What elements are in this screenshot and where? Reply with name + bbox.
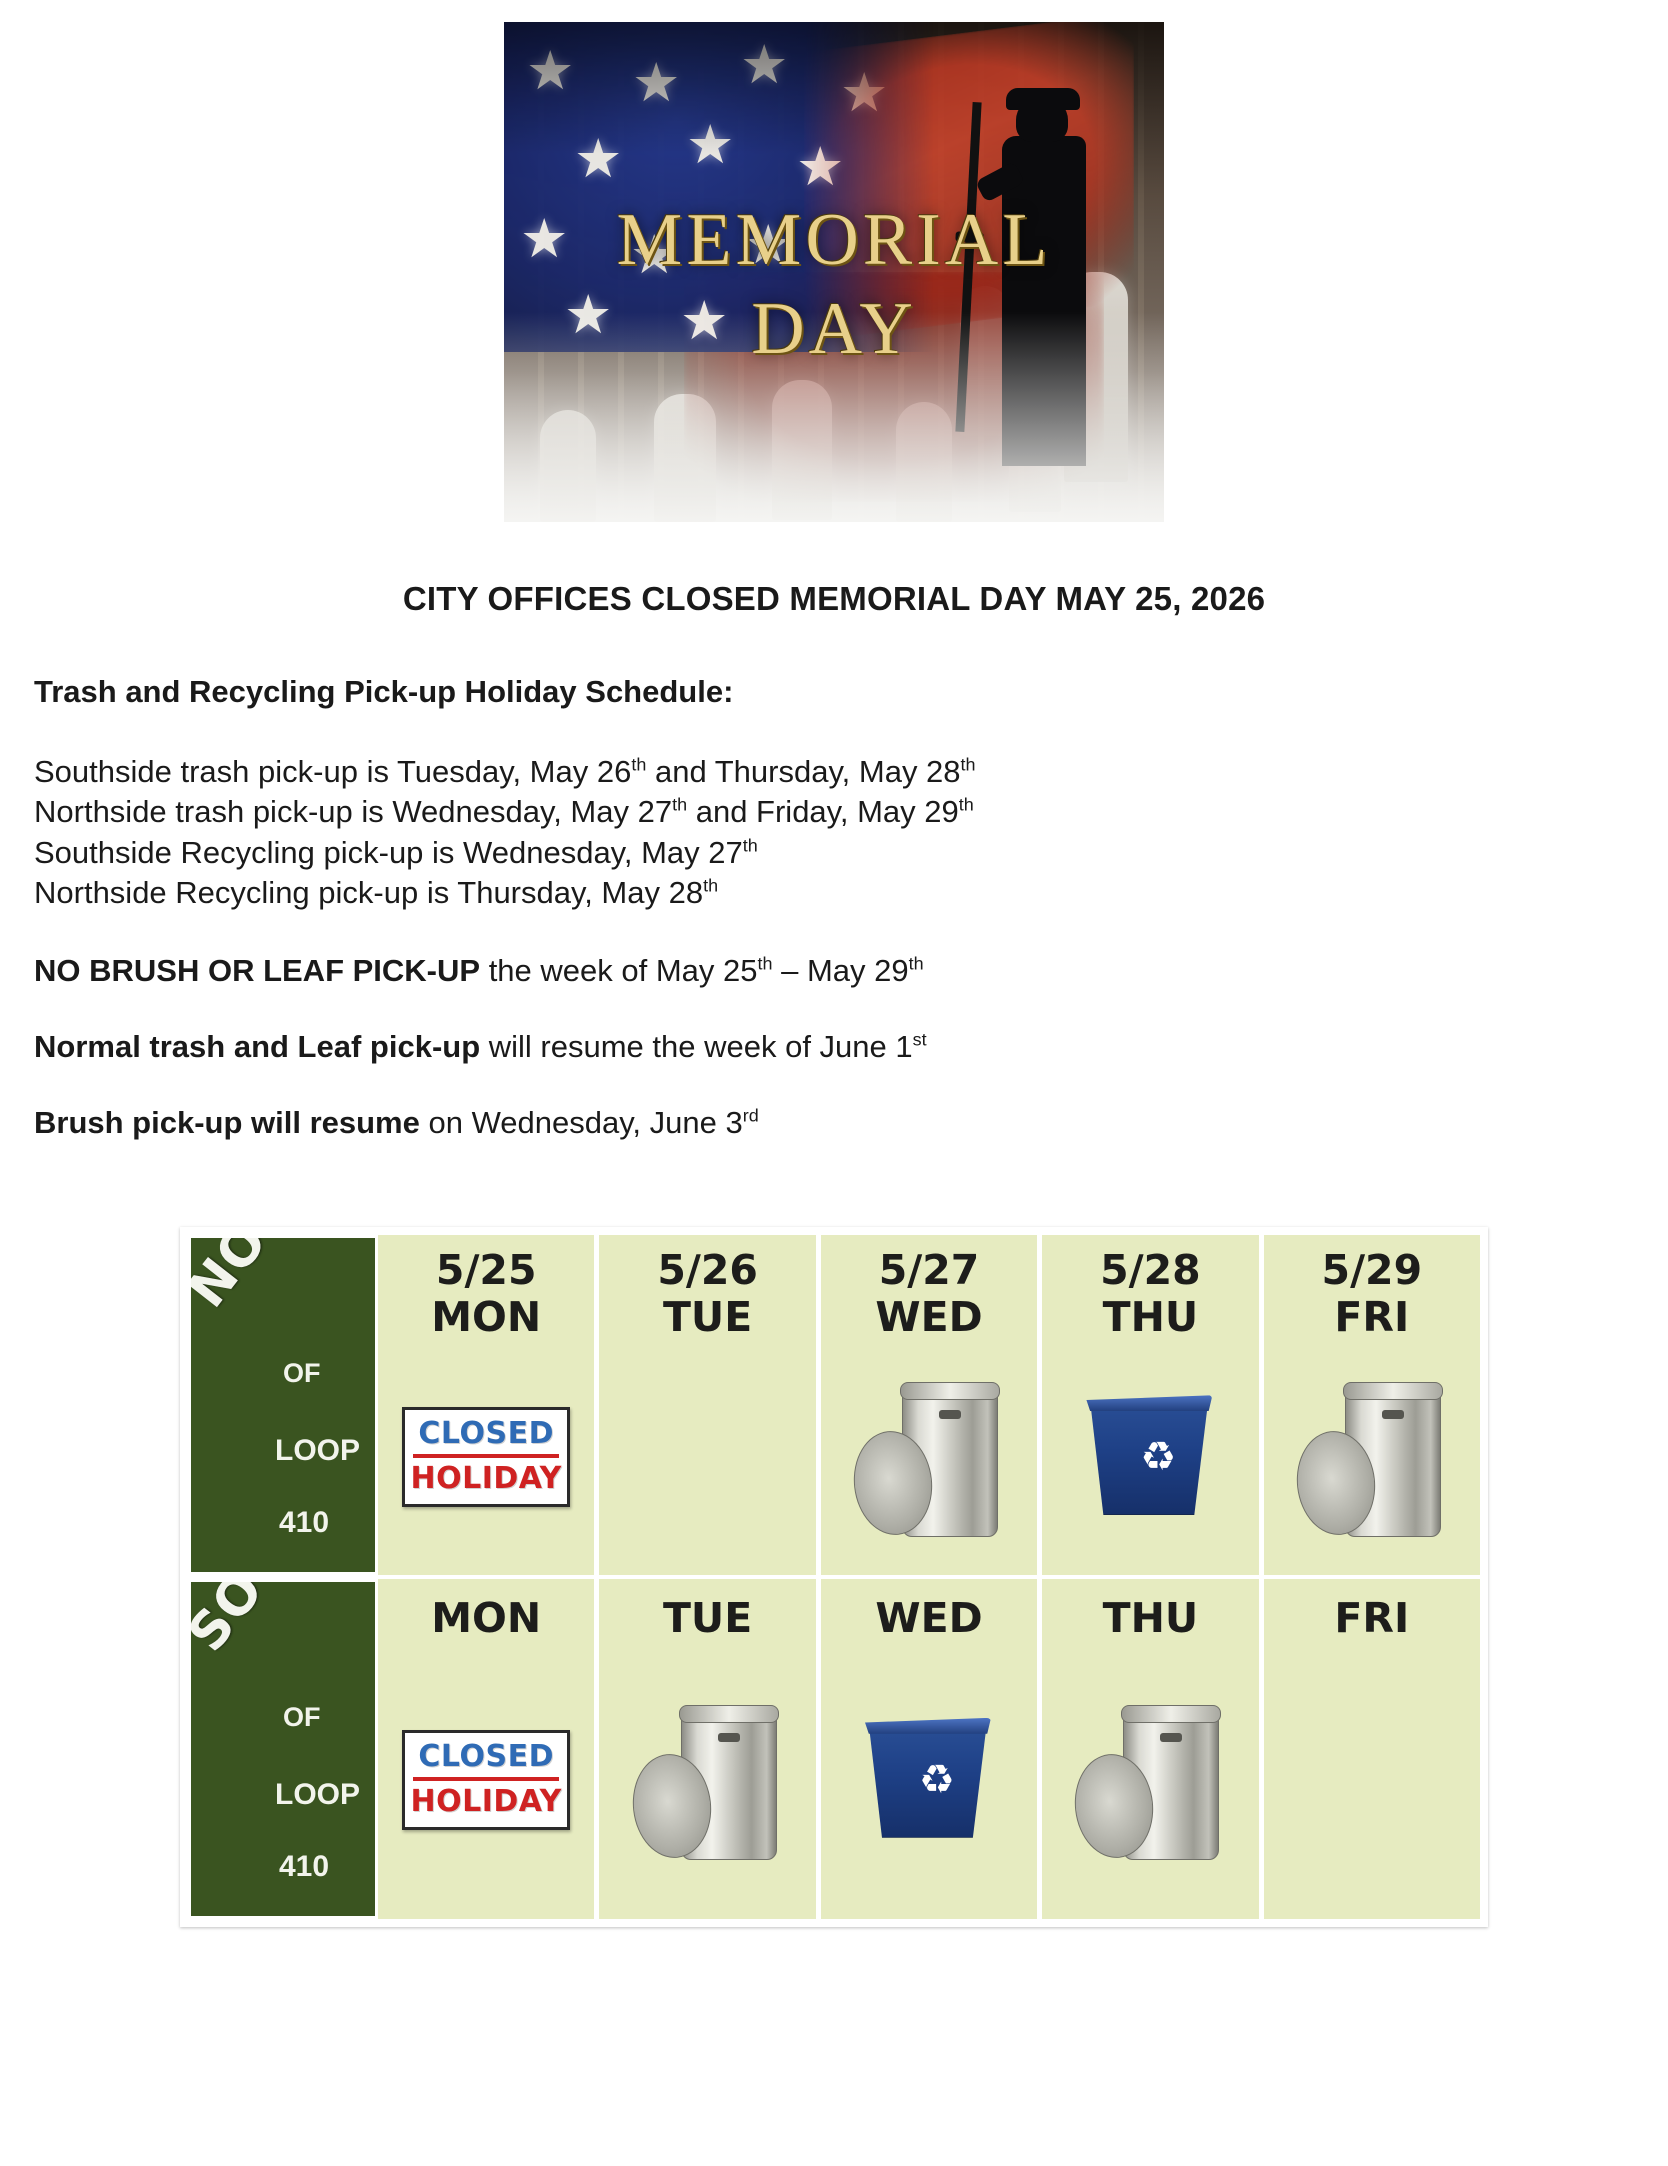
cell-day: WED <box>875 1597 982 1640</box>
schedule-list: Southside trash pick-up is Tuesday, May … <box>34 752 1668 913</box>
cell-day: MON <box>431 1597 541 1640</box>
cell-day: THU <box>1103 1296 1199 1339</box>
ordinal-suffix: th <box>959 795 974 815</box>
cell-day: WED <box>875 1296 982 1339</box>
schedule-text: Northside Recycling pick-up is Thursday,… <box>34 875 703 910</box>
region-name: SOUTH <box>188 1579 378 1663</box>
ordinal-suffix: st <box>913 1030 927 1050</box>
schedule-line: Southside Recycling pick-up is Wednesday… <box>34 833 1668 873</box>
notice-bold-text: NO BRUSH OR LEAF PICK-UP <box>34 953 480 988</box>
region-of-label: OF <box>283 1702 321 1733</box>
notice-no-brush: NO BRUSH OR LEAF PICK-UP the week of May… <box>34 953 1668 989</box>
soldier-cap <box>1006 88 1080 110</box>
pickup-calendar: NORTH OF LOOP 410 5/25 MON CLOSED HOLIDA… <box>180 1227 1488 1927</box>
cell-icon-slot: ♻ <box>821 1640 1037 1919</box>
trash-can-icon <box>1297 1377 1447 1537</box>
memorial-day-title: MEMORIAL DAY <box>504 198 1164 372</box>
region-loop-label: LOOP <box>275 1778 360 1812</box>
ordinal-suffix: th <box>909 954 924 974</box>
cell-day: TUE <box>663 1296 752 1339</box>
holiday-label: HOLIDAY <box>409 1784 563 1819</box>
star-icon: ★ <box>526 44 574 98</box>
cell-icon-slot <box>599 1339 815 1575</box>
recycle-bin-rim <box>865 1718 991 1734</box>
ordinal-suffix: th <box>961 755 976 775</box>
ordinal-suffix: th <box>672 795 687 815</box>
cell-icon-slot: CLOSED HOLIDAY <box>378 1339 594 1575</box>
cell-icon-slot <box>1042 1640 1258 1919</box>
cell-day: MON <box>431 1296 541 1339</box>
cell-icon-slot <box>821 1339 1037 1575</box>
cell-icon-slot <box>599 1640 815 1919</box>
notice-bold-text: Normal trash and Leaf pick-up <box>34 1029 480 1064</box>
calendar-cell: 5/27 WED <box>821 1235 1042 1575</box>
banner-container: ★ ★ ★ ★ ★ ★ ★ ★ ★ ★ ★ ★ MEMORIAL DAY <box>0 0 1668 522</box>
schedule-text: and Friday, May 29 <box>687 794 959 829</box>
closed-holiday-sign: CLOSED HOLIDAY <box>402 1730 570 1830</box>
calendar-cell: 5/25 MON CLOSED HOLIDAY <box>378 1235 599 1575</box>
ordinal-suffix: th <box>703 876 718 896</box>
schedule-text: Northside trash pick-up is Wednesday, Ma… <box>34 794 672 829</box>
ordinal-suffix: th <box>758 954 773 974</box>
calendar-row-north: NORTH OF LOOP 410 5/25 MON CLOSED HOLIDA… <box>188 1235 1480 1579</box>
recycle-bin-icon: ♻ <box>863 1714 995 1846</box>
holiday-label: HOLIDAY <box>409 1461 563 1496</box>
calendar-cell: 5/28 THU ♻ <box>1042 1235 1263 1575</box>
cell-icon-slot: ♻ <box>1042 1339 1258 1575</box>
region-loop-label: LOOP <box>275 1434 360 1468</box>
cell-date: 5/25 <box>436 1249 537 1292</box>
recycle-symbol-icon: ♻ <box>1140 1437 1176 1477</box>
cell-day: FRI <box>1334 1597 1409 1640</box>
notice-brush-resume: Brush pick-up will resume on Wednesday, … <box>34 1105 1668 1141</box>
trash-can-icon <box>1075 1700 1225 1860</box>
closed-label: CLOSED <box>409 1739 563 1774</box>
cell-day: TUE <box>663 1597 752 1640</box>
notice-normal-resume: Normal trash and Leaf pick-up will resum… <box>34 1029 1668 1065</box>
day-word: DAY <box>504 287 1164 372</box>
trash-can-icon <box>854 1377 1004 1537</box>
ordinal-suffix: th <box>631 755 646 775</box>
cell-date: 5/29 <box>1322 1249 1423 1292</box>
star-icon: ★ <box>796 140 844 194</box>
star-icon: ★ <box>740 38 788 92</box>
calendar-cell: MON CLOSED HOLIDAY <box>378 1579 599 1919</box>
notice-text: – May 29 <box>773 953 909 988</box>
section-heading: Trash and Recycling Pick-up Holiday Sche… <box>34 674 1668 710</box>
closed-label: CLOSED <box>409 1416 563 1451</box>
cell-day: THU <box>1103 1597 1199 1640</box>
page-title: CITY OFFICES CLOSED MEMORIAL DAY MAY 25,… <box>0 580 1668 618</box>
calendar-cell: THU <box>1042 1579 1263 1919</box>
recycle-symbol-icon: ♻ <box>919 1760 955 1800</box>
ordinal-suffix: rd <box>743 1106 759 1126</box>
schedule-text: Southside Recycling pick-up is Wednesday… <box>34 835 743 870</box>
memorial-word: MEMORIAL <box>504 198 1164 283</box>
star-icon: ★ <box>840 66 888 120</box>
calendar-cells-north: 5/25 MON CLOSED HOLIDAY 5/26 TUE <box>378 1235 1480 1575</box>
calendar-row-south: SOUTH OF LOOP 410 MON CLOSED HOLIDAY <box>188 1579 1480 1919</box>
schedule-text: and Thursday, May 28 <box>646 754 960 789</box>
region-label-south: SOUTH OF LOOP 410 <box>188 1579 378 1919</box>
recycle-bin-icon: ♻ <box>1084 1391 1216 1523</box>
memorial-day-image: ★ ★ ★ ★ ★ ★ ★ ★ ★ ★ ★ ★ MEMORIAL DAY <box>504 22 1164 522</box>
region-label-north: NORTH OF LOOP 410 <box>188 1235 378 1575</box>
cell-date: 5/28 <box>1100 1249 1201 1292</box>
star-icon: ★ <box>574 132 622 186</box>
schedule-text: Southside trash pick-up is Tuesday, May … <box>34 754 631 789</box>
calendar-cells-south: MON CLOSED HOLIDAY TUE <box>378 1579 1480 1919</box>
cell-icon-slot: CLOSED HOLIDAY <box>378 1640 594 1919</box>
region-of-label: OF <box>283 1358 321 1389</box>
calendar-cell: FRI <box>1264 1579 1480 1919</box>
notice-bold-text: Brush pick-up will resume <box>34 1105 420 1140</box>
star-icon: ★ <box>632 56 680 110</box>
schedule-line: Northside trash pick-up is Wednesday, Ma… <box>34 792 1668 832</box>
trash-can-icon <box>633 1700 783 1860</box>
ordinal-suffix: th <box>743 835 758 855</box>
cell-date: 5/27 <box>879 1249 980 1292</box>
region-loop-number: 410 <box>279 1850 329 1884</box>
star-icon: ★ <box>686 118 734 172</box>
closed-holiday-sign: CLOSED HOLIDAY <box>402 1407 570 1507</box>
calendar-cell: TUE <box>599 1579 820 1919</box>
calendar-cell: 5/26 TUE <box>599 1235 820 1575</box>
sign-divider <box>413 1777 559 1781</box>
cell-date: 5/26 <box>657 1249 758 1292</box>
sign-divider <box>413 1454 559 1458</box>
calendar-cell: WED ♻ <box>821 1579 1042 1919</box>
cell-day: FRI <box>1334 1296 1409 1339</box>
recycle-bin-rim <box>1086 1395 1212 1411</box>
cell-icon-slot <box>1264 1339 1480 1575</box>
notice-text: will resume the week of June 1 <box>480 1029 913 1064</box>
calendar-cell: 5/29 FRI <box>1264 1235 1480 1575</box>
notice-text: the week of May 25 <box>480 953 757 988</box>
region-loop-number: 410 <box>279 1506 329 1540</box>
schedule-line: Southside trash pick-up is Tuesday, May … <box>34 752 1668 792</box>
calendar-container: NORTH OF LOOP 410 5/25 MON CLOSED HOLIDA… <box>0 1227 1668 1927</box>
cell-icon-slot <box>1264 1640 1480 1919</box>
schedule-line: Northside Recycling pick-up is Thursday,… <box>34 873 1668 913</box>
notice-text: on Wednesday, June 3 <box>420 1105 743 1140</box>
region-name: NORTH <box>188 1235 378 1319</box>
